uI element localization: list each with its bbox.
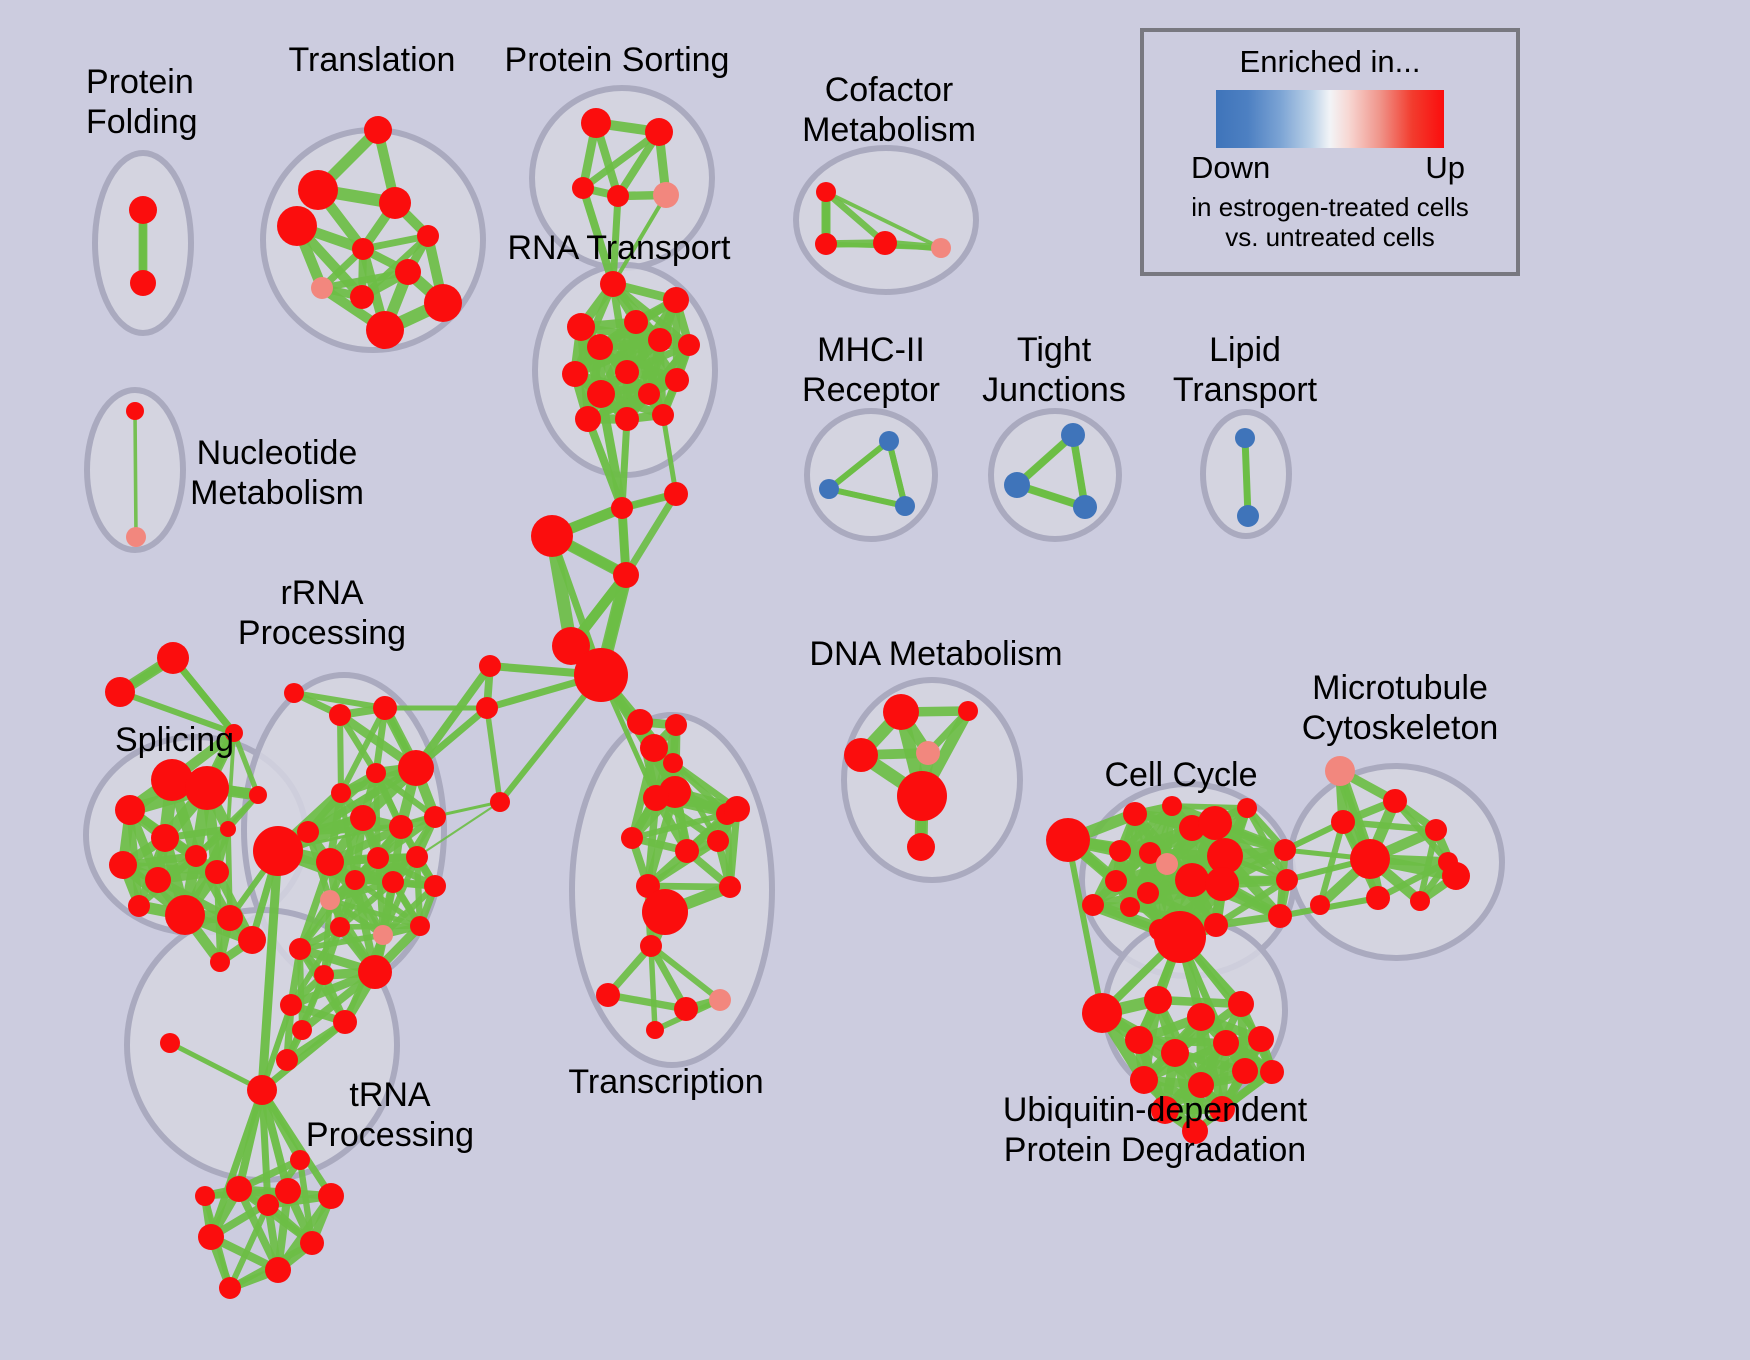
network-node-rrna-processing[interactable] — [358, 955, 392, 989]
network-node-trna-processing[interactable] — [275, 1178, 301, 1204]
network-node-rna-transport[interactable] — [615, 360, 639, 384]
network-node-cell-cycle[interactable] — [1276, 869, 1298, 891]
network-node-trna-processing[interactable] — [318, 1183, 344, 1209]
network-node-rna-transport[interactable] — [648, 328, 672, 352]
network-node-rna-transport[interactable] — [562, 361, 588, 387]
network-node-protein-sorting[interactable] — [607, 185, 629, 207]
network-node-backbone2[interactable] — [479, 655, 501, 677]
network-node-cell-cycle[interactable] — [1175, 863, 1209, 897]
network-node-rrna-processing[interactable] — [373, 925, 393, 945]
network-node-cell-cycle[interactable] — [1198, 806, 1232, 840]
cluster-label-line: Protein Sorting — [505, 40, 730, 80]
network-node-nucleotide-metabolism[interactable] — [126, 527, 146, 547]
network-node-microtubule-cytoskeleton[interactable] — [1325, 756, 1355, 786]
network-node-transcription[interactable] — [665, 714, 687, 736]
cluster-label-line: Protein — [86, 62, 198, 102]
network-node-translation[interactable] — [395, 259, 421, 285]
network-node-trna-processing[interactable] — [160, 1033, 180, 1053]
network-edge — [1245, 438, 1248, 516]
legend-title: Enriched in... — [1144, 44, 1516, 80]
network-node-transcription[interactable] — [675, 839, 699, 863]
cluster-label-ubiquitin-protein-degradation: Ubiquitin-dependentProtein Degradation — [1003, 1090, 1307, 1170]
network-node-cell-cycle[interactable] — [1274, 839, 1296, 861]
network-node-trna-processing[interactable] — [257, 1194, 279, 1216]
network-node-ubiquitin-protein-degradation[interactable] — [1082, 993, 1122, 1033]
network-node-microtubule-cytoskeleton[interactable] — [1425, 819, 1447, 841]
cluster-label-line: Junctions — [982, 370, 1126, 410]
cluster-label-line: rRNA — [238, 573, 406, 613]
cluster-label-dna-metabolism: DNA Metabolism — [809, 634, 1062, 674]
network-node-microtubule-cytoskeleton[interactable] — [1310, 895, 1330, 915]
network-node-dna-metabolism[interactable] — [958, 701, 978, 721]
network-node-translation[interactable] — [350, 285, 374, 309]
network-node-nucleotide-metabolism[interactable] — [126, 402, 144, 420]
network-node-cofactor-metabolism[interactable] — [931, 238, 951, 258]
network-node-rrna-processing[interactable] — [367, 847, 389, 869]
cluster-label-line: Protein Degradation — [1003, 1130, 1307, 1170]
network-node-rrna-processing[interactable] — [406, 846, 428, 868]
network-node-splicing[interactable] — [151, 824, 179, 852]
cluster-label-line: Transcription — [568, 1062, 763, 1102]
cluster-label-line: DNA Metabolism — [809, 634, 1062, 674]
legend-high-label: Up — [1425, 150, 1465, 186]
network-node-rrna-processing[interactable] — [333, 1010, 357, 1034]
network-node-protein-sorting[interactable] — [581, 108, 611, 138]
network-node-ubiquitin-protein-degradation[interactable] — [1232, 1058, 1258, 1084]
network-node-lipid-transport[interactable] — [1237, 505, 1259, 527]
cluster-label-protein-folding: ProteinFolding — [86, 62, 198, 142]
network-node-lipid-transport[interactable] — [1235, 428, 1255, 448]
network-node-backbone2[interactable] — [490, 792, 510, 812]
network-node-cell-cycle[interactable] — [1205, 867, 1239, 901]
cluster-label-line: Metabolism — [190, 473, 364, 513]
network-node-tight-junctions[interactable] — [1004, 472, 1030, 498]
cluster-label-transcription: Transcription — [568, 1062, 763, 1102]
network-node-microtubule-cytoskeleton[interactable] — [1442, 862, 1470, 890]
network-node-transcription[interactable] — [719, 876, 741, 898]
cluster-label-rrna-processing: rRNAProcessing — [238, 573, 406, 653]
network-node-rrna-processing[interactable] — [320, 890, 340, 910]
network-node-rrna-processing[interactable] — [314, 965, 334, 985]
network-node-splicing[interactable] — [165, 895, 205, 935]
cluster-label-line: Processing — [238, 613, 406, 653]
network-node-tight-junctions[interactable] — [1061, 423, 1085, 447]
network-node-rrna-processing[interactable] — [373, 696, 397, 720]
network-node-transcription[interactable] — [709, 989, 731, 1011]
network-node-protein-sorting[interactable] — [645, 118, 673, 146]
cluster-label-cell-cycle: Cell Cycle — [1104, 755, 1257, 795]
cluster-label-line: Processing — [306, 1115, 474, 1155]
network-node-translation[interactable] — [352, 238, 374, 260]
network-node-splicing[interactable] — [210, 952, 230, 972]
network-node-tight-junctions[interactable] — [1073, 495, 1097, 519]
network-edge — [340, 715, 341, 793]
network-node-dna-metabolism[interactable] — [897, 771, 947, 821]
network-node-trna-processing[interactable] — [265, 1257, 291, 1283]
network-node-splicing[interactable] — [249, 786, 267, 804]
network-node-microtubule-cytoskeleton[interactable] — [1350, 839, 1390, 879]
network-node-rrna-processing[interactable] — [276, 1049, 298, 1071]
network-node-trna-processing[interactable] — [226, 1176, 252, 1202]
cluster-label-line: Receptor — [802, 370, 940, 410]
network-node-rrna-processing[interactable] — [382, 871, 404, 893]
network-node-cell-cycle[interactable] — [1137, 882, 1159, 904]
network-node-splicing[interactable] — [238, 926, 266, 954]
network-node-protein-sorting[interactable] — [653, 182, 679, 208]
network-node-rrna-processing[interactable] — [424, 875, 446, 897]
network-node-rna-transport[interactable] — [587, 334, 613, 360]
network-node-protein-sorting[interactable] — [572, 177, 594, 199]
network-node-ubiquitin-protein-degradation[interactable] — [1187, 1003, 1215, 1031]
network-node-rrna-processing[interactable] — [253, 826, 303, 876]
network-node-cell-cycle[interactable] — [1154, 911, 1206, 963]
network-node-transcription[interactable] — [643, 785, 669, 811]
network-node-microtubule-cytoskeleton[interactable] — [1410, 891, 1430, 911]
network-node-rrna-processing[interactable] — [331, 783, 351, 803]
network-node-rna-transport[interactable] — [624, 310, 648, 334]
cluster-label-line: Transport — [1173, 370, 1317, 410]
network-node-backbone[interactable] — [611, 497, 633, 519]
legend-low-label: Down — [1191, 150, 1270, 186]
cluster-label-protein-sorting: Protein Sorting — [505, 40, 730, 80]
network-node-trna-processing[interactable] — [219, 1277, 241, 1299]
network-node-transcription[interactable] — [621, 827, 643, 849]
network-node-splicing[interactable] — [157, 642, 189, 674]
network-node-ubiquitin-protein-degradation[interactable] — [1228, 991, 1254, 1017]
network-node-mhc-ii-receptor[interactable] — [879, 431, 899, 451]
network-edge — [135, 411, 136, 537]
network-node-rrna-processing[interactable] — [366, 763, 386, 783]
cluster-label-line: Splicing — [115, 720, 234, 760]
network-node-rrna-processing[interactable] — [410, 916, 430, 936]
network-node-ubiquitin-protein-degradation[interactable] — [1125, 1026, 1153, 1054]
cluster-label-tight-junctions: TightJunctions — [982, 330, 1126, 410]
network-node-splicing[interactable] — [205, 860, 229, 884]
cluster-label-nucleotide-metabolism: NucleotideMetabolism — [190, 433, 364, 513]
cluster-label-line: Ubiquitin-dependent — [1003, 1090, 1307, 1130]
network-node-microtubule-cytoskeleton[interactable] — [1331, 810, 1355, 834]
network-node-splicing[interactable] — [128, 895, 150, 917]
cluster-label-translation: Translation — [289, 40, 456, 80]
cluster-label-line: tRNA — [306, 1075, 474, 1115]
network-node-rna-transport[interactable] — [600, 271, 626, 297]
network-node-transcription[interactable] — [646, 1021, 664, 1039]
network-node-transcription[interactable] — [596, 983, 620, 1007]
network-node-trna-processing[interactable] — [195, 1186, 215, 1206]
network-node-translation[interactable] — [277, 206, 317, 246]
network-node-ubiquitin-protein-degradation[interactable] — [1161, 1039, 1189, 1067]
network-node-trna-processing[interactable] — [300, 1231, 324, 1255]
cluster-label-microtubule-cytoskeleton: MicrotubuleCytoskeleton — [1302, 668, 1499, 748]
legend-endpoints: Down Up — [1185, 150, 1475, 192]
network-node-microtubule-cytoskeleton[interactable] — [1366, 886, 1390, 910]
legend-panel: Enriched in... Down Up in estrogen-treat… — [1140, 28, 1520, 276]
network-node-transcription[interactable] — [640, 935, 662, 957]
network-node-trna-processing[interactable] — [198, 1224, 224, 1250]
legend-caption-line1: in estrogen-treated cells — [1144, 192, 1516, 222]
network-node-cofactor-metabolism[interactable] — [873, 231, 897, 255]
network-node-translation[interactable] — [379, 187, 411, 219]
network-node-rrna-processing[interactable] — [330, 917, 350, 937]
network-node-ubiquitin-protein-degradation[interactable] — [1260, 1060, 1284, 1084]
network-node-translation[interactable] — [366, 311, 404, 349]
enrichment-map-figure: ProteinFoldingTranslationProtein Sorting… — [0, 0, 1750, 1360]
network-node-rna-transport[interactable] — [575, 406, 601, 432]
cluster-label-line: Cell Cycle — [1104, 755, 1257, 795]
network-node-rna-transport[interactable] — [665, 368, 689, 392]
cluster-label-rna-transport: RNA Transport — [508, 228, 731, 268]
network-node-rna-transport[interactable] — [663, 287, 689, 313]
network-node-translation[interactable] — [417, 225, 439, 247]
network-node-rna-transport[interactable] — [587, 380, 615, 408]
network-node-backbone[interactable] — [664, 482, 688, 506]
network-node-rna-transport[interactable] — [615, 407, 639, 431]
network-node-cell-cycle[interactable] — [1204, 913, 1228, 937]
cluster-label-line: Nucleotide — [190, 433, 364, 473]
cluster-label-line: Folding — [86, 102, 198, 142]
network-node-cell-cycle[interactable] — [1123, 802, 1147, 826]
network-node-splicing[interactable] — [217, 905, 243, 931]
network-node-rrna-processing[interactable] — [280, 994, 302, 1016]
network-node-splicing[interactable] — [115, 795, 145, 825]
network-node-translation[interactable] — [298, 170, 338, 210]
network-node-transcription[interactable] — [627, 709, 653, 735]
network-node-rrna-processing[interactable] — [292, 1020, 312, 1040]
network-node-transcription[interactable] — [724, 796, 750, 822]
network-node-dna-metabolism[interactable] — [907, 833, 935, 861]
network-node-splicing[interactable] — [105, 677, 135, 707]
cluster-label-mhc-ii-receptor: MHC-IIReceptor — [802, 330, 940, 410]
network-node-transcription[interactable] — [674, 997, 698, 1021]
cluster-label-trna-processing: tRNAProcessing — [306, 1075, 474, 1155]
network-node-rrna-processing[interactable] — [398, 750, 434, 786]
network-node-transcription[interactable] — [642, 889, 688, 935]
legend-caption-line2: vs. untreated cells — [1144, 222, 1516, 252]
network-node-rrna-processing[interactable] — [350, 805, 376, 831]
network-node-splicing[interactable] — [185, 766, 229, 810]
network-node-backbone[interactable] — [531, 515, 573, 557]
network-node-rrna-processing[interactable] — [329, 704, 351, 726]
network-node-rrna-processing[interactable] — [345, 870, 365, 890]
cluster-label-line: Cytoskeleton — [1302, 708, 1499, 748]
network-node-cofactor-metabolism[interactable] — [815, 233, 837, 255]
cluster-label-line: MHC-II — [802, 330, 940, 370]
network-node-transcription[interactable] — [707, 830, 729, 852]
network-node-translation[interactable] — [364, 116, 392, 144]
cluster-ellipse-mhc-ii-receptor — [807, 411, 935, 539]
cluster-label-splicing: Splicing — [115, 720, 234, 760]
network-node-rrna-processing[interactable] — [284, 683, 304, 703]
network-node-ubiquitin-protein-degradation[interactable] — [1248, 1026, 1274, 1052]
network-node-mhc-ii-receptor[interactable] — [895, 496, 915, 516]
network-node-translation[interactable] — [424, 284, 462, 322]
network-node-cell-cycle[interactable] — [1268, 904, 1292, 928]
network-edge — [300, 949, 302, 1030]
cluster-label-line: RNA Transport — [508, 228, 731, 268]
network-node-backbone2[interactable] — [476, 697, 498, 719]
network-node-ubiquitin-protein-degradation[interactable] — [1144, 986, 1172, 1014]
cluster-label-line: Lipid — [1173, 330, 1317, 370]
network-node-cell-cycle[interactable] — [1109, 840, 1131, 862]
network-node-rna-transport[interactable] — [638, 383, 660, 405]
network-node-cell-cycle[interactable] — [1162, 796, 1182, 816]
network-node-mhc-ii-receptor[interactable] — [819, 479, 839, 499]
cluster-label-line: Cofactor — [802, 70, 976, 110]
network-node-protein-folding[interactable] — [130, 270, 156, 296]
network-node-dna-metabolism[interactable] — [883, 694, 919, 730]
network-node-transcription[interactable] — [663, 753, 683, 773]
network-node-cell-cycle[interactable] — [1046, 818, 1090, 862]
color-gradient-bar — [1216, 90, 1444, 148]
network-node-backbone[interactable] — [613, 562, 639, 588]
network-edge — [487, 708, 500, 802]
network-node-microtubule-cytoskeleton[interactable] — [1383, 789, 1407, 813]
network-node-cell-cycle[interactable] — [1082, 894, 1104, 916]
network-node-splicing[interactable] — [185, 845, 207, 867]
network-node-dna-metabolism[interactable] — [844, 738, 878, 772]
network-node-cofactor-metabolism[interactable] — [816, 182, 836, 202]
cluster-label-line: Translation — [289, 40, 456, 80]
network-node-cell-cycle[interactable] — [1120, 897, 1140, 917]
network-node-cell-cycle[interactable] — [1156, 853, 1178, 875]
network-node-rrna-processing[interactable] — [316, 848, 344, 876]
network-node-translation[interactable] — [311, 277, 333, 299]
network-node-trna-processing[interactable] — [247, 1075, 277, 1105]
cluster-label-line: Tight — [982, 330, 1126, 370]
cluster-label-lipid-transport: LipidTransport — [1173, 330, 1317, 410]
network-node-rrna-processing[interactable] — [289, 938, 311, 960]
network-node-rna-transport[interactable] — [567, 313, 595, 341]
network-node-cell-cycle[interactable] — [1105, 870, 1127, 892]
network-node-splicing[interactable] — [109, 851, 137, 879]
network-node-protein-folding[interactable] — [129, 196, 157, 224]
cluster-label-line: Microtubule — [1302, 668, 1499, 708]
network-node-rrna-processing[interactable] — [424, 806, 446, 828]
network-node-backbone[interactable] — [574, 648, 628, 702]
network-node-splicing[interactable] — [220, 821, 236, 837]
network-node-cell-cycle[interactable] — [1237, 798, 1257, 818]
network-node-rna-transport[interactable] — [652, 404, 674, 426]
network-node-rrna-processing[interactable] — [389, 815, 413, 839]
network-node-dna-metabolism[interactable] — [916, 741, 940, 765]
network-node-ubiquitin-protein-degradation[interactable] — [1213, 1030, 1239, 1056]
cluster-label-cofactor-metabolism: CofactorMetabolism — [802, 70, 976, 150]
cluster-label-line: Metabolism — [802, 110, 976, 150]
network-node-splicing[interactable] — [145, 867, 171, 893]
network-node-transcription[interactable] — [640, 734, 668, 762]
network-edge — [622, 419, 627, 508]
network-node-rna-transport[interactable] — [678, 334, 700, 356]
